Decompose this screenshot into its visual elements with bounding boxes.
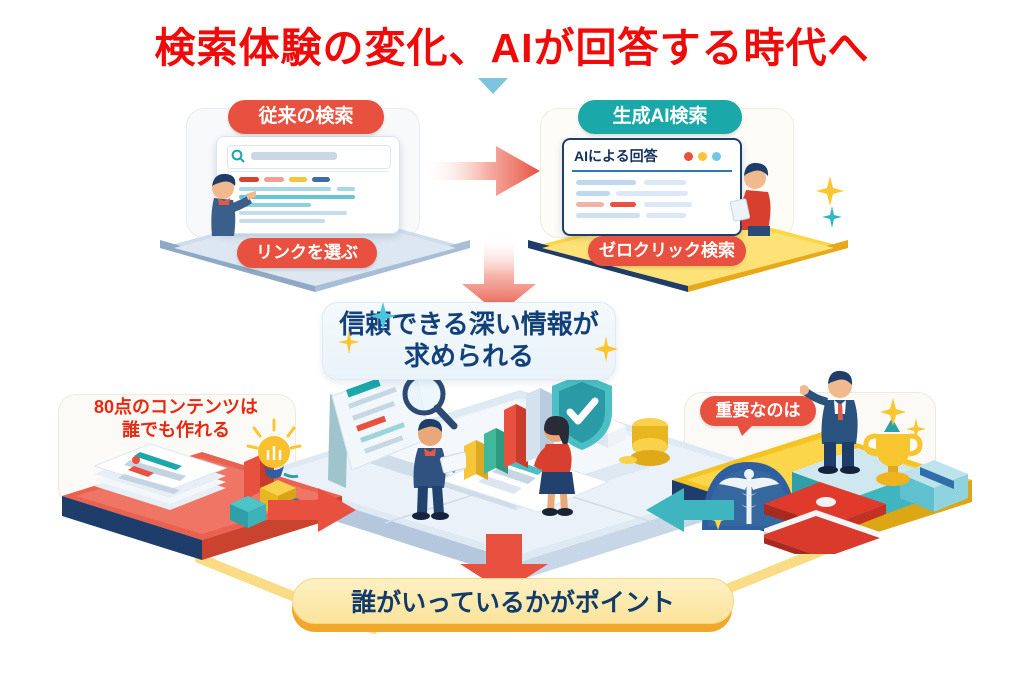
- ai-answer-screen: AIによる回答: [562, 138, 742, 236]
- center-message-banner: 信頼できる深い情報が 求められる: [322, 302, 616, 380]
- arrow-left-icon: [642, 486, 734, 534]
- traditional-badge-bottom-label: リンクを選ぶ: [256, 243, 358, 263]
- sparkle-icon: [906, 418, 926, 440]
- bottom-banner-label: 誰がいっているかがポイント: [351, 583, 675, 619]
- ai-badge-bottom: ゼロクリック検索: [588, 236, 746, 266]
- sparkle-icon: [594, 336, 618, 362]
- arrow-right-icon: [268, 486, 358, 534]
- traditional-badge-bottom: リンクを選ぶ: [237, 238, 377, 268]
- ai-badge-bottom-label: ゼロクリック検索: [599, 241, 735, 261]
- traditional-badge-top: 従来の検索: [228, 100, 384, 134]
- left-panel-label: 80点のコンテンツは 誰でも作れる: [74, 396, 278, 443]
- traditional-badge-top-label: 従来の検索: [258, 106, 353, 128]
- sparkle-icon: [822, 206, 842, 228]
- left-panel-label-line1: 80点のコンテンツは: [74, 396, 278, 419]
- sparkle-icon: [370, 302, 396, 330]
- books-icon: [764, 482, 894, 554]
- speech-tail-icon: [736, 422, 756, 436]
- arrow-right-icon: [422, 140, 544, 202]
- right-panel-badge-label: 重要なのは: [716, 401, 801, 421]
- bottom-banner: 誰がいっているかがポイント: [292, 578, 734, 624]
- ai-badge-top-label: 生成AI検索: [612, 106, 707, 128]
- person-searching-illustration: [196, 172, 256, 240]
- chevron-down-icon: [478, 78, 508, 94]
- person-ai-illustration: [728, 160, 792, 236]
- person-reviewer-illustration: [524, 414, 588, 518]
- center-banner-line2: 求められる: [404, 341, 534, 373]
- sparkle-icon: [338, 330, 360, 354]
- sparkle-icon: [816, 176, 844, 206]
- documents-stack-icon: [94, 436, 234, 514]
- sparkle-icon: [880, 398, 906, 426]
- left-panel-label-line2: 誰でも作れる: [74, 419, 278, 442]
- right-panel-badge: 重要なのは: [700, 396, 816, 426]
- person-analyst-illustration: [396, 418, 466, 522]
- ai-screen-heading: AIによる回答: [574, 146, 658, 166]
- infographic-root: 検索体験の変化、AIが回答する時代へ: [0, 0, 1024, 696]
- ai-badge-top: 生成AI検索: [578, 100, 742, 134]
- coins-icon: [618, 410, 688, 472]
- page-title: 検索体験の変化、AIが回答する時代へ: [0, 14, 1024, 74]
- magnifier-icon: [231, 149, 245, 163]
